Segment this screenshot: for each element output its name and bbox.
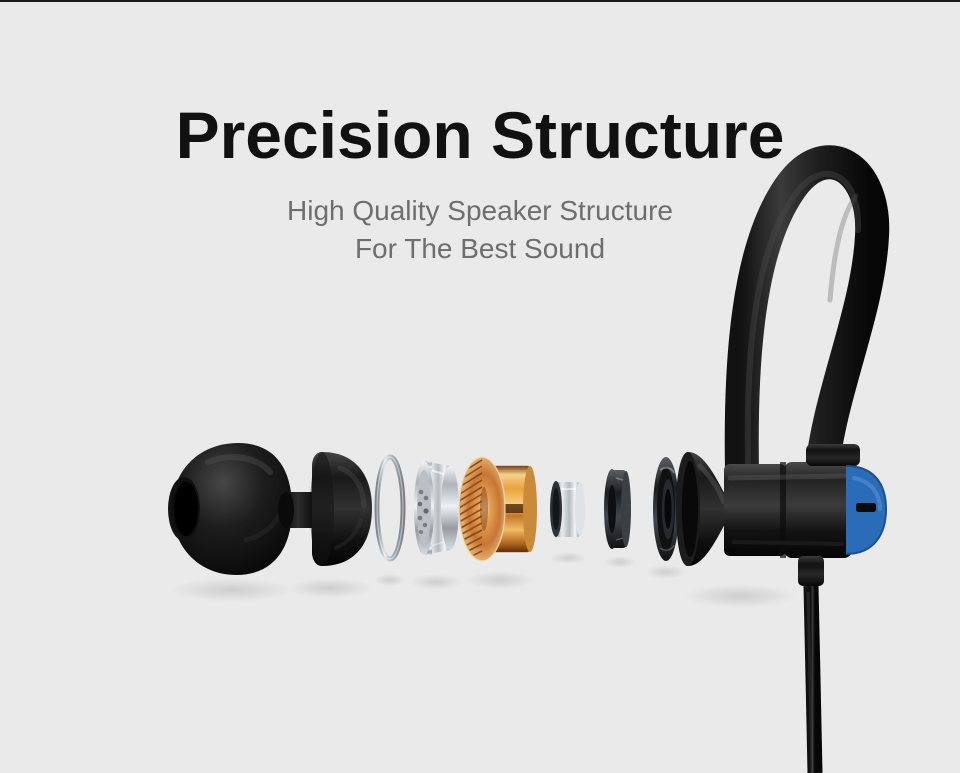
part-horn-housing	[676, 444, 860, 608]
part-o-ring	[374, 457, 406, 586]
part-back-plate-ring	[646, 457, 686, 579]
end-cap-port	[856, 503, 876, 512]
part-driver-housing	[410, 461, 462, 590]
part-magnet	[550, 481, 586, 564]
marketing-banner: Precision Structure High Quality Speaker…	[0, 0, 960, 773]
part-end-cap	[846, 466, 886, 554]
part-diaphragm-coil	[459, 457, 537, 589]
page-subtitle: High Quality Speaker Structure For The B…	[0, 192, 960, 268]
page-title: Precision Structure	[0, 102, 960, 168]
subtitle-line-1: High Quality Speaker Structure	[0, 192, 960, 230]
part-washer-ring	[604, 469, 636, 568]
part-nozzle-funnel	[278, 452, 372, 598]
top-divider	[0, 0, 960, 2]
part-cable	[808, 586, 815, 773]
part-ear-tip	[168, 443, 294, 602]
subtitle-line-2: For The Best Sound	[0, 230, 960, 268]
